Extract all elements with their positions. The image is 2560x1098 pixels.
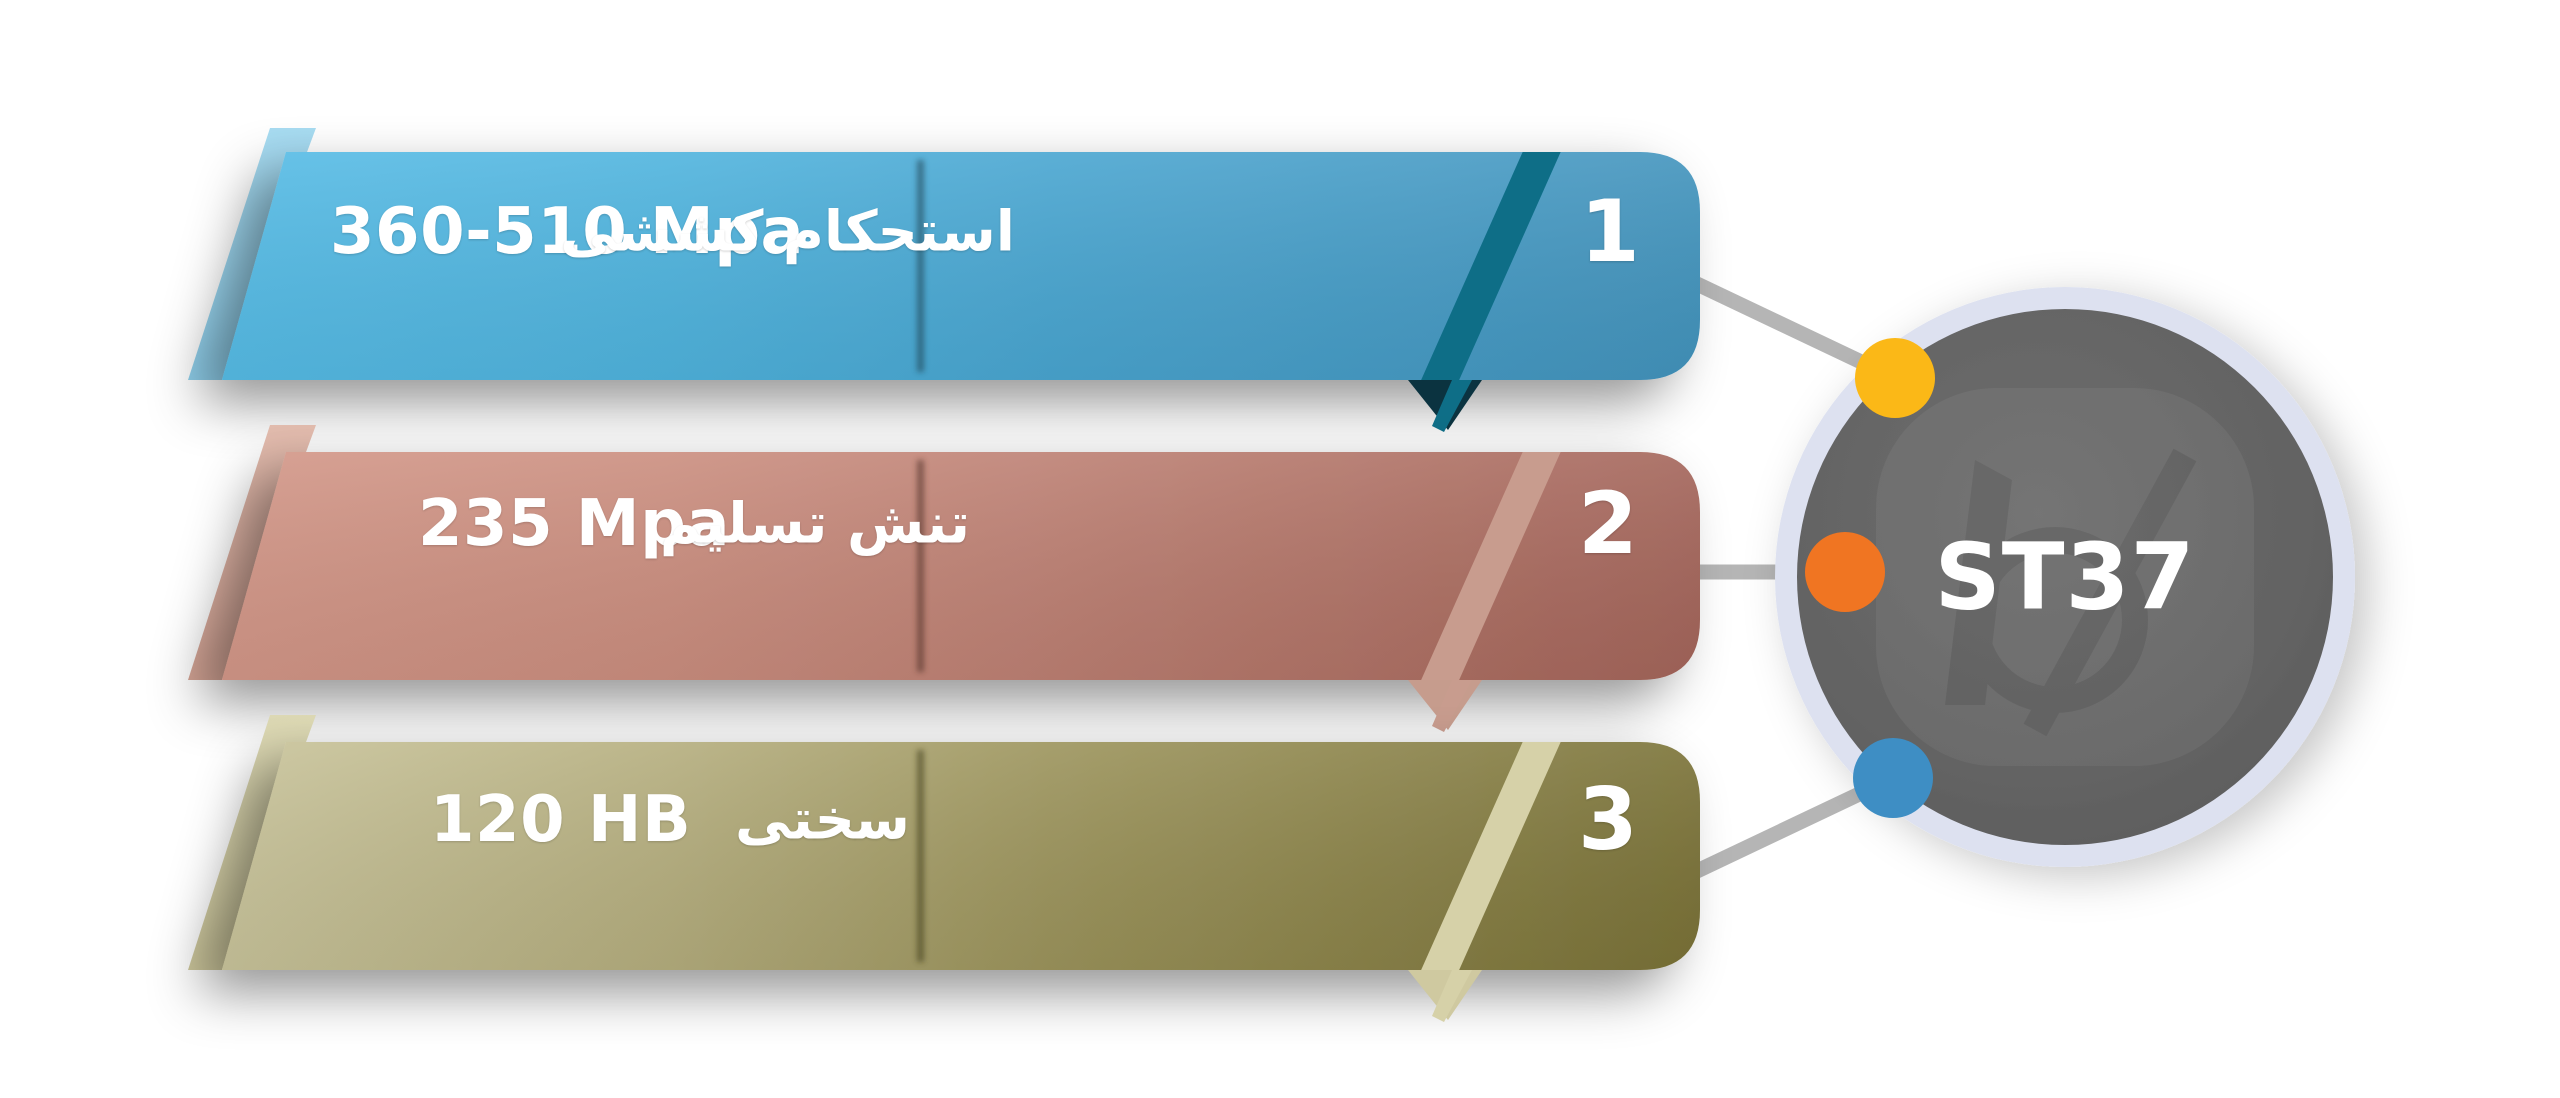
connector-dot-orange[interactable] — [1805, 532, 1885, 612]
hub-label: ST37 — [1934, 524, 2195, 631]
bar-row-1-divider — [917, 160, 924, 372]
bar-row-1[interactable] — [188, 128, 1700, 432]
bar-row-3[interactable] — [188, 715, 1700, 1022]
bar-row-3-divider — [917, 750, 924, 962]
infographic-canvas: 360-510 Mpa استحکام کششی 1 235 Mpa تنش ت… — [0, 0, 2560, 1098]
bar-row-2[interactable] — [188, 425, 1700, 732]
connector-dot-amber[interactable] — [1855, 338, 1935, 418]
bar-row-2-divider — [917, 460, 924, 672]
connector-dot-blue[interactable] — [1853, 738, 1933, 818]
